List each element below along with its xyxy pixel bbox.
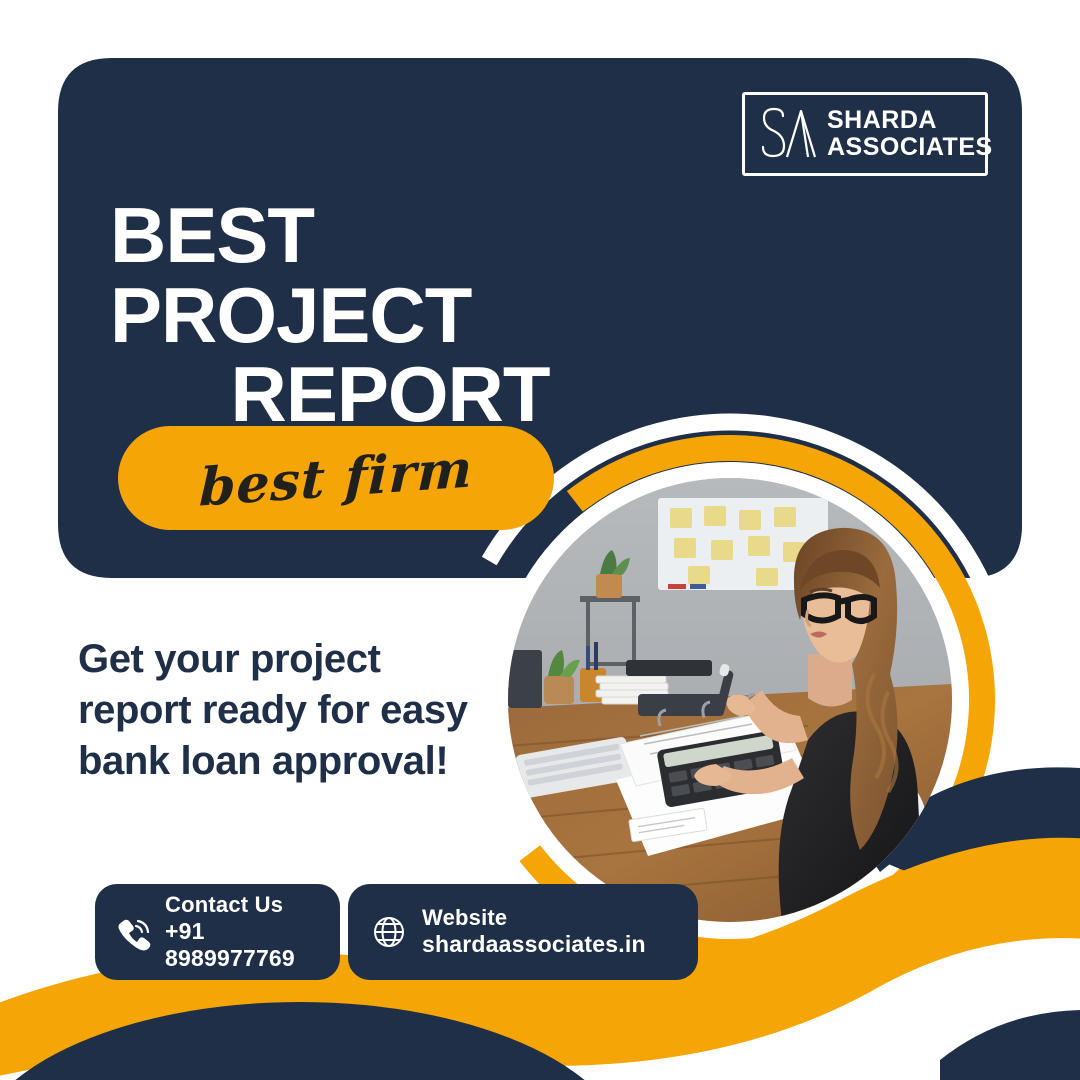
sa-monogram-icon — [757, 106, 819, 162]
brand-name-line1: SHARDA — [827, 107, 993, 134]
contact-phone: +91 8989977769 — [165, 918, 340, 972]
headline: BEST PROJECT REPORT — [110, 196, 670, 435]
website-title: Website — [422, 905, 646, 931]
brand-name-line2: ASSOCIATES — [827, 134, 993, 161]
website-url: shardaassociates.in — [422, 931, 646, 958]
brand-logo[interactable]: SHARDA ASSOCIATES — [742, 92, 988, 176]
contact-title: Contact Us — [165, 892, 340, 918]
headline-line1: BEST PROJECT — [110, 196, 670, 355]
navy-corner-bottom-right — [940, 1010, 1080, 1080]
website-text: Website shardaassociates.in — [422, 905, 646, 958]
tagline: Get your project report ready for easy b… — [78, 634, 498, 788]
brand-name: SHARDA ASSOCIATES — [827, 107, 993, 161]
website-card[interactable]: Website shardaassociates.in — [348, 884, 698, 980]
contact-text: Contact Us +91 8989977769 — [165, 892, 340, 972]
best-firm-badge-label: best firm — [198, 438, 474, 518]
hero-photo-illustration — [508, 478, 952, 922]
best-firm-badge: best firm — [118, 426, 554, 530]
hero-photo — [508, 478, 952, 922]
contact-card[interactable]: Contact Us +91 8989977769 — [95, 884, 340, 980]
poster-canvas: SHARDA ASSOCIATES BEST PROJECT REPORT be… — [0, 0, 1080, 1080]
headline-line2: REPORT — [110, 355, 670, 435]
globe-icon — [370, 913, 408, 951]
phone-icon — [113, 913, 151, 951]
